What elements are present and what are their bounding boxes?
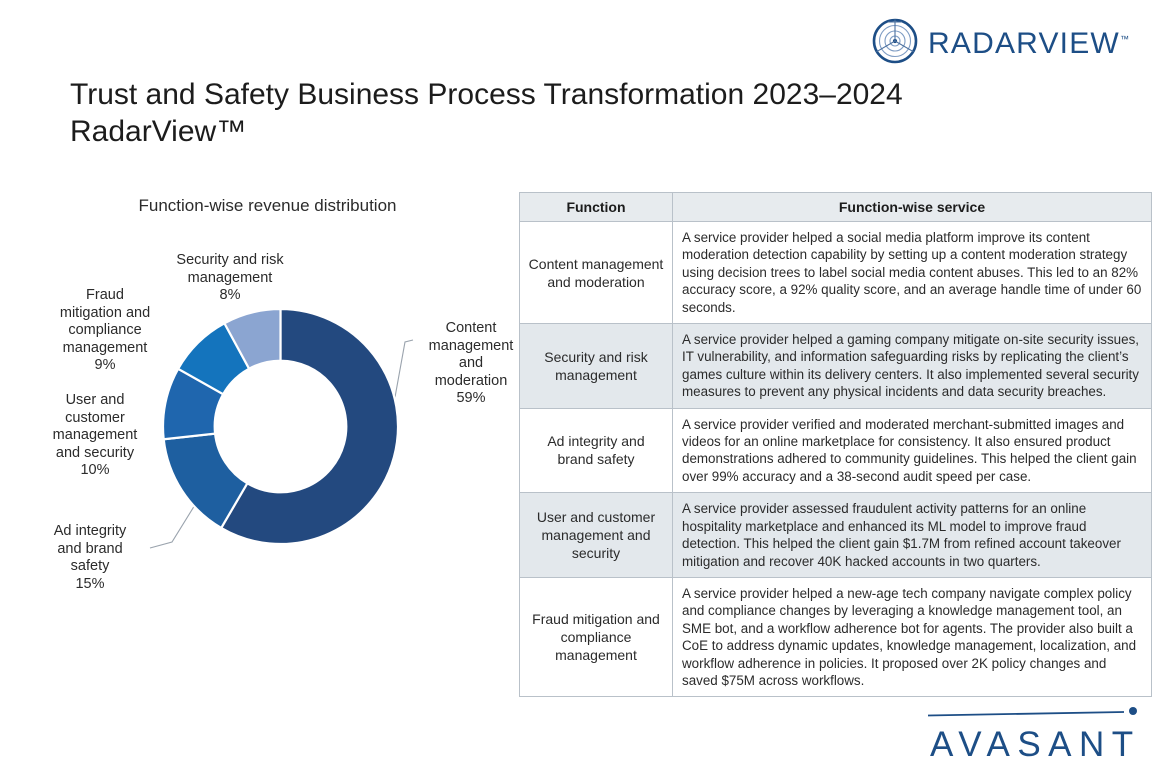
column-header-function-wise-service: Function-wise service	[673, 193, 1152, 222]
chart-panel: Function-wise revenue distribution Secur…	[20, 190, 515, 660]
radarview-tm-mark: ™	[1120, 34, 1130, 44]
table-row: Fraud mitigation and compliance manageme…	[520, 577, 1152, 696]
table-header-row: Function Function-wise service	[520, 193, 1152, 222]
cell-function: User and customer management and securit…	[520, 493, 673, 578]
pie-label-fraud-mitigation-and-compliance-management: Fraud mitigation and compliance manageme…	[40, 287, 170, 375]
pie-label-security-and-risk-management: Security and risk management 8%	[160, 252, 300, 305]
radarview-logo: RADARVIEW™	[872, 18, 1130, 69]
table-row: User and customer management and securit…	[520, 493, 1152, 578]
cell-function-wise-service: A service provider helped a gaming compa…	[673, 324, 1152, 409]
pie-label-content-management-and-moderation: Content management and moderation 59%	[416, 320, 526, 408]
cell-function: Security and risk management	[520, 324, 673, 409]
cell-function: Ad integrity and brand safety	[520, 408, 673, 493]
column-header-function: Function	[520, 193, 673, 222]
function-service-table: Function Function-wise service Content m…	[519, 192, 1152, 697]
cell-function-wise-service: A service provider assessed fraudulent a…	[673, 493, 1152, 578]
radar-target-icon	[872, 18, 918, 69]
donut-chart	[162, 308, 399, 545]
table-row: Security and risk managementA service pr…	[520, 324, 1152, 409]
pie-label-ad-integrity-and-brand-safety: Ad integrity and brand safety 15%	[30, 523, 150, 593]
cell-function: Content management and moderation	[520, 222, 673, 324]
pie-label-user-and-customer-management-and-security: User and customer management and securit…	[30, 392, 160, 480]
cell-function-wise-service: A service provider helped a new-age tech…	[673, 577, 1152, 696]
avasant-swoosh-icon	[928, 706, 1140, 720]
table-row: Ad integrity and brand safetyA service p…	[520, 408, 1152, 493]
table-row: Content management and moderationA servi…	[520, 222, 1152, 324]
cell-function-wise-service: A service provider helped a social media…	[673, 222, 1152, 324]
page-title: Trust and Safety Business Process Transf…	[70, 76, 1020, 150]
avasant-logo: AVASANT	[928, 706, 1140, 758]
radarview-wordmark: RADARVIEW™	[928, 27, 1130, 61]
donut-chart-svg	[162, 308, 399, 545]
radarview-wordmark-text: RADARVIEW	[928, 27, 1120, 60]
cell-function: Fraud mitigation and compliance manageme…	[520, 577, 673, 696]
avasant-wordmark: AVASANT	[928, 725, 1140, 765]
cell-function-wise-service: A service provider verified and moderate…	[673, 408, 1152, 493]
